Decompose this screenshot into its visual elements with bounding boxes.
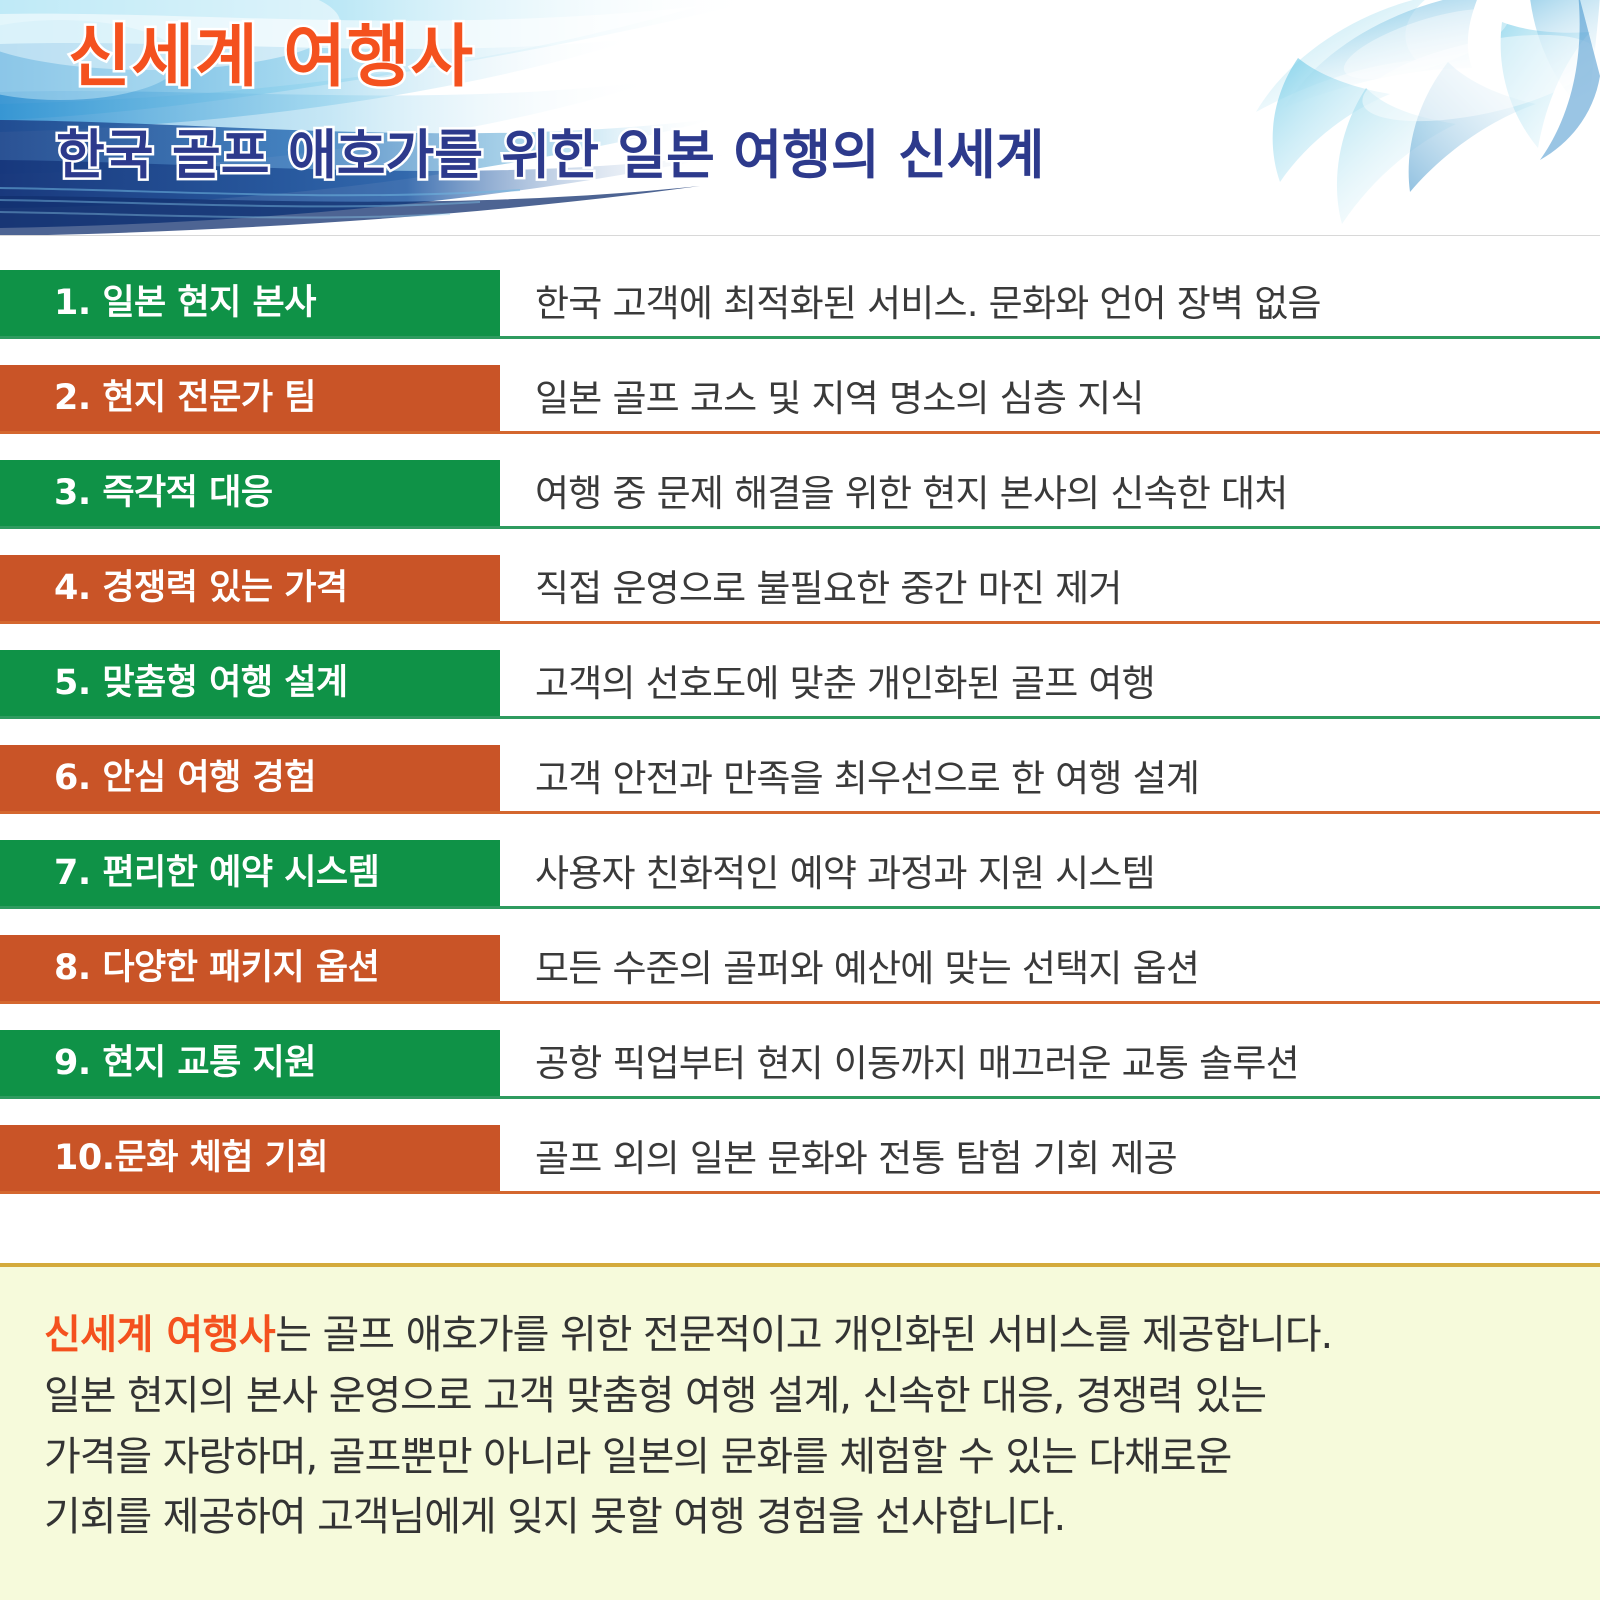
feature-row[interactable]: 5. 맞춤형 여행 설계고객의 선호도에 맞춘 개인화된 골프 여행 [0,644,1600,739]
feature-row-underline [0,1001,1600,1004]
page-title: 신세계 여행사 [68,22,474,93]
feature-label-text: 7. 편리한 예약 시스템 [54,856,379,891]
footer-line-4: 기회를 제공하여 고객님에게 잊지 못할 여행 경험을 선사합니다. [44,1487,1556,1548]
page-subtitle: 한국 골프 애호가를 위한 일본 여행의 신세계 [56,128,1044,184]
feature-label-block[interactable]: 3. 즉각적 대응 [0,460,500,526]
feature-row[interactable]: 3. 즉각적 대응여행 중 문제 해결을 위한 현지 본사의 신속한 대처 [0,454,1600,549]
feature-row-underline [0,1096,1600,1099]
feature-label-text: 4. 경쟁력 있는 가격 [54,571,348,606]
feature-description: 골프 외의 일본 문화와 전통 탐험 기회 제공 [535,1125,1177,1191]
feature-label-block[interactable]: 9. 현지 교통 지원 [0,1030,500,1096]
feature-row-underline [0,431,1600,434]
feature-label-block[interactable]: 7. 편리한 예약 시스템 [0,840,500,906]
feature-row-underline [0,811,1600,814]
brand-name: 신세계 여행사 [44,1312,275,1358]
feature-label-text: 10.문화 체험 기회 [54,1141,328,1176]
feature-label-block[interactable]: 5. 맞춤형 여행 설계 [0,650,500,716]
feature-list: 1. 일본 현지 본사한국 고객에 최적화된 서비스. 문화와 언어 장벽 없음… [0,236,1600,1263]
feature-label-block[interactable]: 2. 현지 전문가 팀 [0,365,500,431]
feature-row-underline [0,526,1600,529]
feature-label-text: 6. 안심 여행 경험 [54,761,316,796]
feature-label-text: 5. 맞춤형 여행 설계 [54,666,348,701]
feature-row[interactable]: 4. 경쟁력 있는 가격직접 운영으로 불필요한 중간 마진 제거 [0,549,1600,644]
footer-line-1: 신세계 여행사는 골프 애호가를 위한 전문적이고 개인화된 서비스를 제공합니… [44,1305,1556,1366]
feature-row[interactable]: 2. 현지 전문가 팀일본 골프 코스 및 지역 명소의 심층 지식 [0,359,1600,454]
feature-label-block[interactable]: 4. 경쟁력 있는 가격 [0,555,500,621]
feature-row-underline [0,336,1600,339]
feature-row-underline [0,906,1600,909]
feature-description: 고객 안전과 만족을 최우선으로 한 여행 설계 [535,745,1199,811]
summary-footer: 신세계 여행사는 골프 애호가를 위한 전문적이고 개인화된 서비스를 제공합니… [0,1263,1600,1600]
feature-description: 모든 수준의 골퍼와 예산에 맞는 선택지 옵션 [535,935,1199,1001]
feature-description: 여행 중 문제 해결을 위한 현지 본사의 신속한 대처 [535,460,1288,526]
footer-line-1-rest: 는 골프 애호가를 위한 전문적이고 개인화된 서비스를 제공합니다. [275,1312,1332,1358]
feature-label-block[interactable]: 6. 안심 여행 경험 [0,745,500,811]
feature-label-block[interactable]: 8. 다양한 패키지 옵션 [0,935,500,1001]
footer-line-2: 일본 현지의 본사 운영으로 고객 맞춤형 여행 설계, 신속한 대응, 경쟁력… [44,1366,1556,1427]
feature-label-text: 3. 즉각적 대응 [54,476,273,511]
feature-label-text: 2. 현지 전문가 팀 [54,381,316,416]
feature-row[interactable]: 9. 현지 교통 지원공항 픽업부터 현지 이동까지 매끄러운 교통 솔루션 [0,1024,1600,1119]
feature-label-block[interactable]: 10.문화 체험 기회 [0,1125,500,1191]
feature-row-underline [0,621,1600,624]
feature-row[interactable]: 1. 일본 현지 본사한국 고객에 최적화된 서비스. 문화와 언어 장벽 없음 [0,264,1600,359]
feature-label-text: 8. 다양한 패키지 옵션 [54,951,379,986]
feature-description: 고객의 선호도에 맞춘 개인화된 골프 여행 [535,650,1155,716]
feature-description: 사용자 친화적인 예약 과정과 지원 시스템 [535,840,1155,906]
footer-line-3: 가격을 자랑하며, 골프뿐만 아니라 일본의 문화를 체험할 수 있는 다채로운 [44,1427,1556,1488]
feature-label-block[interactable]: 1. 일본 현지 본사 [0,270,500,336]
feature-label-text: 9. 현지 교통 지원 [54,1046,316,1081]
page-header: 신세계 여행사 한국 골프 애호가를 위한 일본 여행의 신세계 [0,0,1600,236]
feature-row-underline [0,1191,1600,1194]
feature-row[interactable]: 10.문화 체험 기회골프 외의 일본 문화와 전통 탐험 기회 제공 [0,1119,1600,1214]
feature-description: 직접 운영으로 불필요한 중간 마진 제거 [535,555,1122,621]
feature-label-text: 1. 일본 현지 본사 [54,286,316,321]
feature-row[interactable]: 7. 편리한 예약 시스템사용자 친화적인 예약 과정과 지원 시스템 [0,834,1600,929]
feature-row-underline [0,716,1600,719]
feature-description: 한국 고객에 최적화된 서비스. 문화와 언어 장벽 없음 [535,270,1321,336]
feature-description: 일본 골프 코스 및 지역 명소의 심층 지식 [535,365,1144,431]
feature-row[interactable]: 6. 안심 여행 경험고객 안전과 만족을 최우선으로 한 여행 설계 [0,739,1600,834]
feature-description: 공항 픽업부터 현지 이동까지 매끄러운 교통 솔루션 [535,1030,1299,1096]
feature-row[interactable]: 8. 다양한 패키지 옵션모든 수준의 골퍼와 예산에 맞는 선택지 옵션 [0,929,1600,1024]
